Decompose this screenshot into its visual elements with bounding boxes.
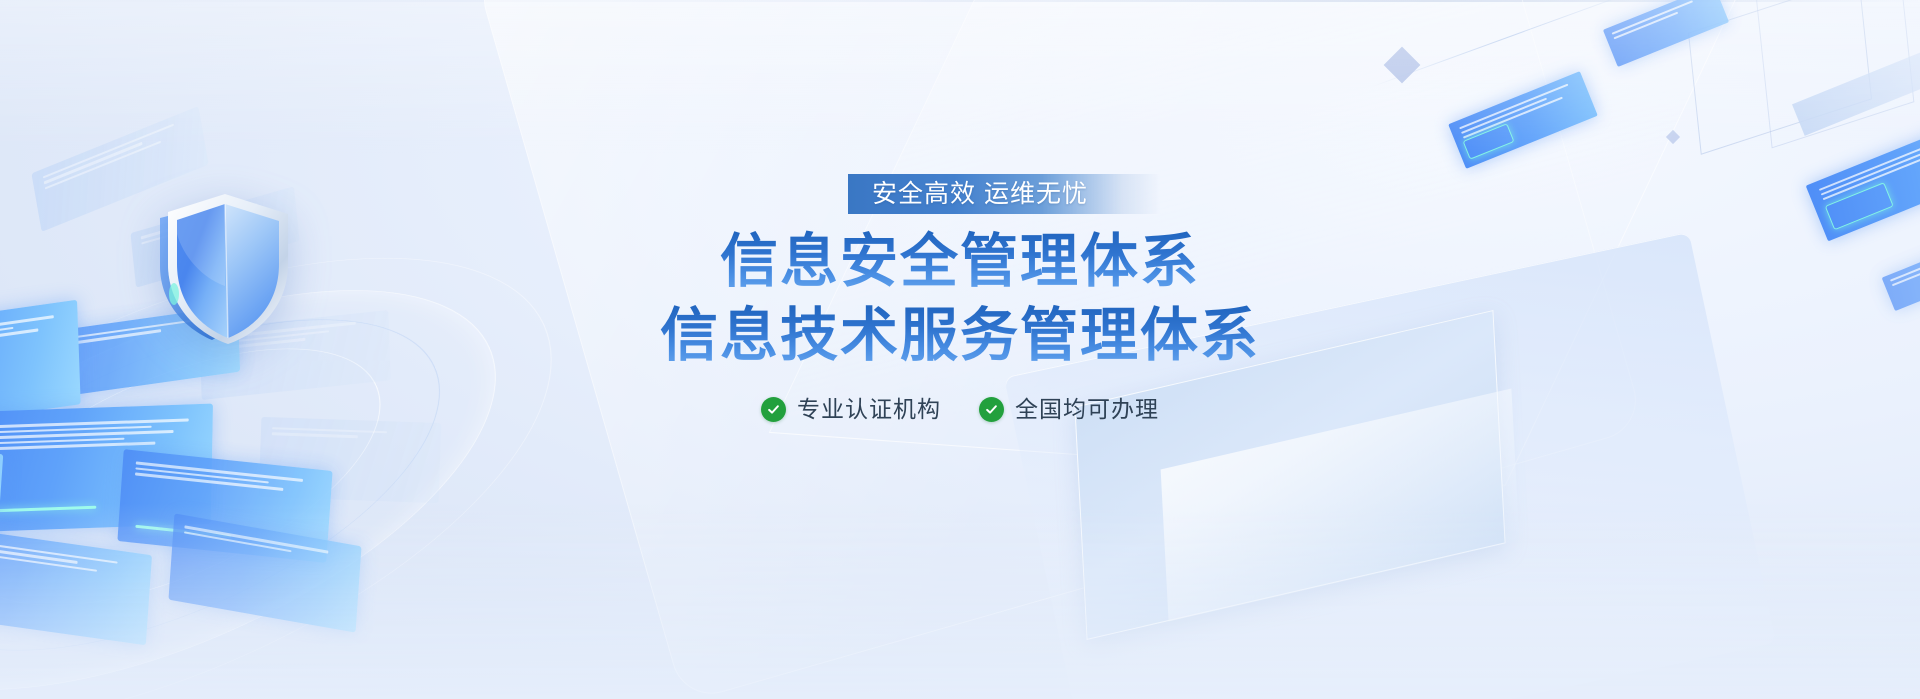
check-circle-icon [761, 397, 786, 422]
feature-label: 全国均可办理 [1015, 398, 1159, 421]
tagline-badge: 安全高效 运维无忧 [848, 174, 1160, 214]
headline-line-2: 信息技术服务管理体系 [660, 302, 1260, 370]
hero-banner: 安全高效 运维无忧 信息安全管理体系 信息技术服务管理体系 专业认证机构 全国均… [0, 0, 1920, 699]
hero-content: 安全高效 运维无忧 信息安全管理体系 信息技术服务管理体系 专业认证机构 全国均… [0, 0, 1920, 699]
feature-item-nationwide: 全国均可办理 [979, 397, 1159, 422]
page-title: 信息安全管理体系 信息技术服务管理体系 [660, 228, 1260, 371]
feature-item-certification: 专业认证机构 [761, 397, 941, 422]
tagline-text: 安全高效 运维无忧 [872, 182, 1088, 207]
headline-line-1: 信息安全管理体系 [660, 228, 1260, 296]
feature-label: 专业认证机构 [797, 398, 941, 421]
check-circle-icon [979, 397, 1004, 422]
feature-list: 专业认证机构 全国均可办理 [761, 397, 1159, 422]
